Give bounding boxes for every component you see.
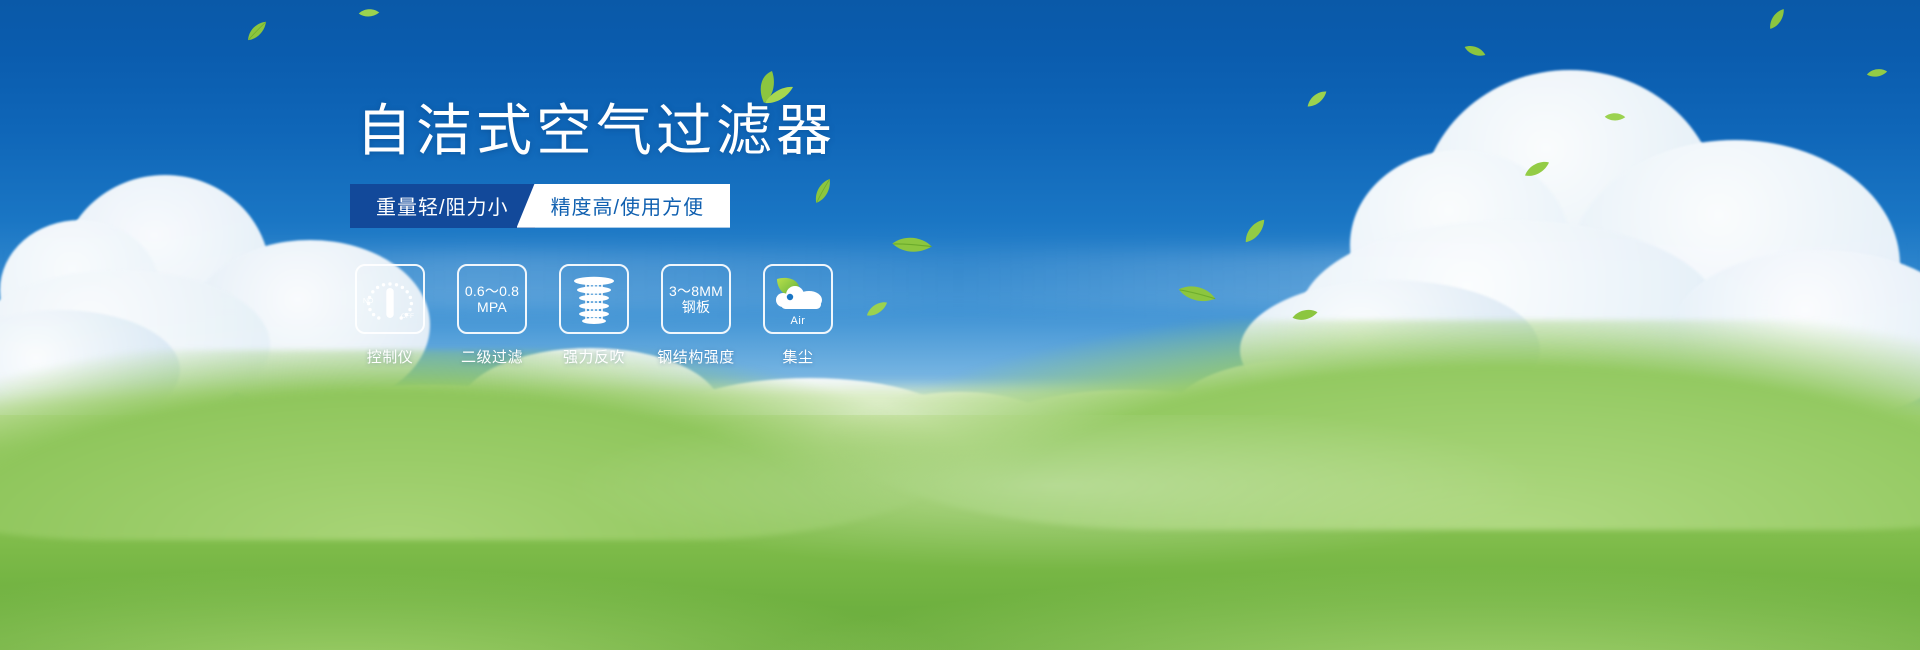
feature-item-controller[interactable]: NO OFF 控制仪 [350, 264, 430, 367]
feature-box-line1: 3～8MM [669, 283, 723, 299]
title-leaf-icon [738, 70, 794, 109]
feature-caption: 控制仪 [367, 346, 414, 367]
banner-content: 自洁式空气过滤器 重量轻/阻力小 精度高/使用方便 [350, 100, 1050, 367]
svg-text:NO: NO [363, 298, 374, 305]
feature-item-dust-collection[interactable]: Air 集尘 [758, 264, 838, 367]
feature-caption: 二级过滤 [461, 346, 523, 367]
feature-row: NO OFF 控制仪 0.6～0.8 MPA 二级过滤 [350, 264, 1050, 367]
leaf-icon [358, 5, 381, 22]
feature-caption: 强力反吹 [563, 346, 625, 367]
leaf-icon [1304, 89, 1331, 108]
air-label: Air [765, 315, 831, 327]
feature-caption: 钢结构强度 [657, 346, 735, 367]
badge-precision-easyuse[interactable]: 精度高/使用方便 [517, 184, 731, 228]
badge-lightweight-lowresistance[interactable]: 重量轻/阻力小 [350, 184, 535, 228]
leaf-icon [1604, 108, 1627, 126]
feature-box: 0.6～0.8 MPA [457, 264, 527, 334]
feature-box-line2: MPA [477, 299, 507, 315]
cloud-right-cumulus [1240, 30, 1920, 430]
coil-filter-icon [570, 273, 618, 325]
feature-box [559, 264, 629, 334]
feature-box-line2: 钢板 [682, 299, 710, 315]
title-block: 自洁式空气过滤器 [350, 100, 836, 162]
grass-highlight [0, 415, 1920, 650]
leaf-icon [1866, 66, 1888, 81]
svg-text:OFF: OFF [401, 313, 414, 320]
feature-box-line1: 0.6～0.8 [465, 283, 519, 299]
feature-item-strong-blowback[interactable]: 强力反吹 [554, 264, 634, 367]
feature-box: NO OFF [355, 264, 425, 334]
grass-field [0, 415, 1920, 650]
badge-row: 重量轻/阻力小 精度高/使用方便 [350, 184, 1050, 228]
feature-item-two-stage-filter[interactable]: 0.6～0.8 MPA 二级过滤 [452, 264, 532, 367]
feature-item-steel-strength[interactable]: 3～8MM 钢板 钢结构强度 [656, 264, 736, 367]
leaf-icon [1463, 39, 1487, 62]
feature-box: 3～8MM 钢板 [661, 264, 731, 334]
leaf-icon [1239, 217, 1272, 245]
hero-banner: 自洁式空气过滤器 重量轻/阻力小 精度高/使用方便 [0, 0, 1920, 650]
page-title: 自洁式空气过滤器 [356, 100, 836, 162]
leaf-icon [1764, 7, 1791, 31]
feature-box: Air [763, 264, 833, 334]
leaf-icon [1523, 160, 1552, 178]
control-dial-icon: NO OFF [361, 274, 419, 324]
leaf-icon [243, 19, 272, 42]
feature-caption: 集尘 [782, 346, 813, 367]
